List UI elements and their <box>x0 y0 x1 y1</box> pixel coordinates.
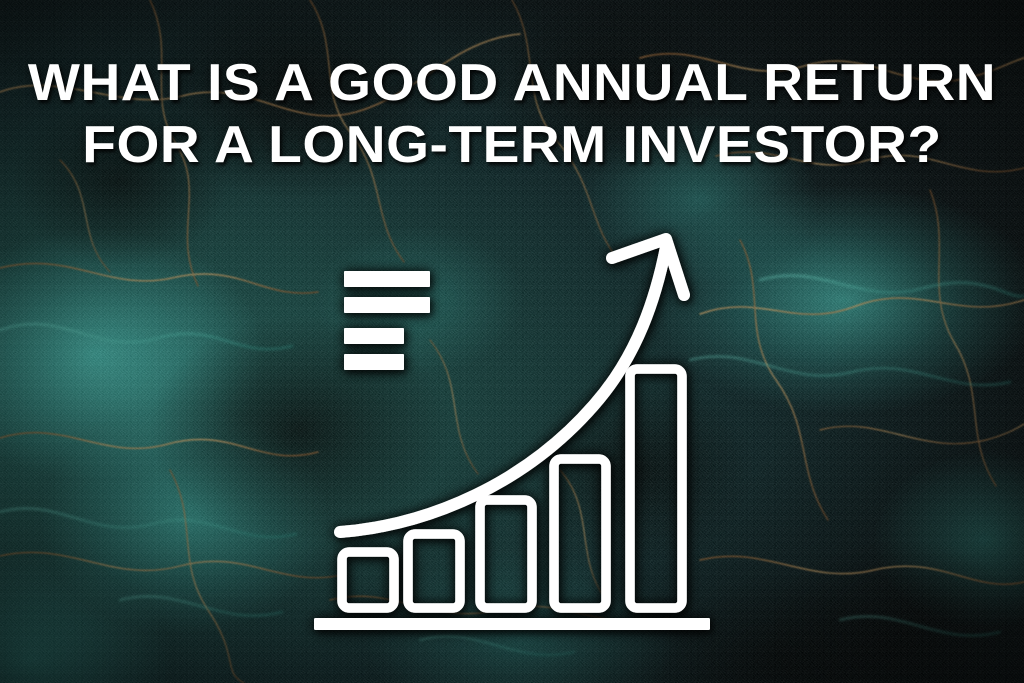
chart-bar-2 <box>408 534 460 608</box>
arrow-curve-path <box>340 247 666 532</box>
chart-bar-5 <box>630 369 682 608</box>
chart-bar-3 <box>480 500 532 608</box>
chart-bar-4 <box>554 459 606 608</box>
growth-chart-icon <box>300 225 724 640</box>
list-line-1 <box>344 271 430 287</box>
arrow-head-chevron <box>612 239 684 295</box>
list-line-3 <box>344 328 404 344</box>
chart-bar-1 <box>342 552 394 608</box>
page-title-line-1: WHAT IS A GOOD ANNUAL RETURN <box>0 52 1024 114</box>
chart-bars <box>342 369 682 608</box>
list-lines-glyph <box>344 271 430 370</box>
list-line-4 <box>344 354 404 370</box>
chart-baseline-axis <box>314 618 710 630</box>
page-title: WHAT IS A GOOD ANNUAL RETURN FOR A LONG-… <box>0 52 1024 176</box>
page-title-line-2: FOR A LONG-TERM INVESTOR? <box>0 114 1024 176</box>
header-graphic-canvas: WHAT IS A GOOD ANNUAL RETURN FOR A LONG-… <box>0 0 1024 683</box>
list-line-2 <box>344 297 430 313</box>
